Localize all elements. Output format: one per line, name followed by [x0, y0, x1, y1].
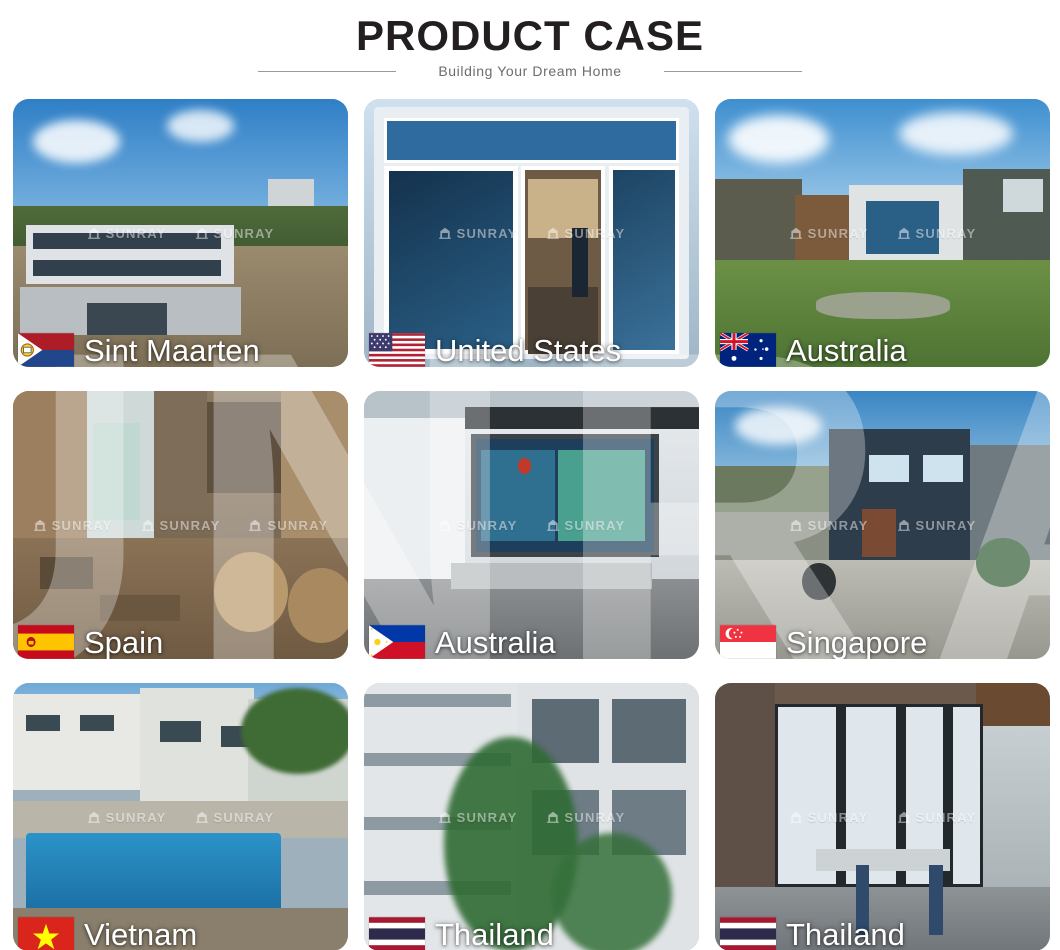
- case-country-label: Vietnam: [84, 919, 197, 950]
- case-photo-glass-sunroom-interior: [364, 99, 699, 367]
- case-label: Spain: [18, 625, 163, 659]
- case-country-label: Thailand: [786, 919, 905, 950]
- case-label: Australia: [369, 625, 556, 659]
- case-card[interactable]: SUNRAY SUNRAY Vietnam: [13, 683, 348, 950]
- case-country-label: Thailand: [435, 919, 554, 950]
- case-country-label: Australia: [435, 627, 556, 659]
- page-header: PRODUCT CASE Building Your Dream Home: [0, 0, 1060, 95]
- flag-vietnam: [18, 917, 74, 950]
- case-label: United States: [369, 333, 621, 367]
- case-card[interactable]: SUNRAY SUNRAY Australia: [364, 391, 699, 659]
- case-label: Vietnam: [18, 917, 197, 950]
- case-label: Sint Maarten: [18, 333, 260, 367]
- case-photo-atrium-lounge-interior: [13, 391, 348, 659]
- flag-spain: [18, 625, 74, 659]
- divider-left: [258, 71, 396, 72]
- case-label: Australia: [720, 333, 907, 367]
- case-grid: SUNRAY SUNRAY Sint Maarten: [13, 99, 1047, 944]
- case-photo-two-storey-dark-house: [715, 391, 1050, 659]
- case-card[interactable]: SUNRAY SUNRAY Singapore: [715, 391, 1050, 659]
- case-photo-hillside-villa: [13, 99, 348, 367]
- case-photo-pool-side-apartments: [13, 683, 348, 950]
- case-country-label: Australia: [786, 335, 907, 367]
- divider-right: [664, 71, 802, 72]
- case-photo-patio-glass-partition: [715, 683, 1050, 950]
- case-card[interactable]: SUNRAY SUNRAY: [364, 99, 699, 367]
- flag-sint-maarten: [18, 333, 74, 367]
- flag-philippines: [369, 625, 425, 659]
- case-label: Thailand: [369, 917, 554, 950]
- case-photo-white-wall-window: [364, 391, 699, 659]
- case-country-label: United States: [435, 335, 621, 367]
- flag-singapore: [720, 625, 776, 659]
- page-subtitle: Building Your Dream Home: [438, 63, 621, 79]
- product-case-page: PRODUCT CASE Building Your Dream Home: [0, 0, 1060, 950]
- case-country-label: Sint Maarten: [84, 335, 260, 367]
- case-label: Singapore: [720, 625, 927, 659]
- case-card[interactable]: SUNRAY SUNRAY Austr: [715, 99, 1050, 367]
- case-card[interactable]: SUNRAY SUNRAY SUNRAY Spain: [13, 391, 348, 659]
- flag-australia: [720, 333, 776, 367]
- case-country-label: Singapore: [786, 627, 927, 659]
- flag-thailand: [720, 917, 776, 950]
- case-card[interactable]: SUNRAY SUNRAY Thailand: [364, 683, 699, 950]
- flag-thailand: [369, 917, 425, 950]
- page-title: PRODUCT CASE: [0, 12, 1060, 60]
- case-card[interactable]: SUNRAY SUNRAY Sint Maarten: [13, 99, 348, 367]
- subtitle-row: Building Your Dream Home: [0, 63, 1060, 79]
- case-card[interactable]: SUNRAY SUNRAY Thailand: [715, 683, 1050, 950]
- case-country-label: Spain: [84, 627, 163, 659]
- flag-united-states: [369, 333, 425, 367]
- case-photo-balcony-palms-resort: [364, 683, 699, 950]
- case-photo-modern-house-lawn: [715, 99, 1050, 367]
- case-label: Thailand: [720, 917, 905, 950]
